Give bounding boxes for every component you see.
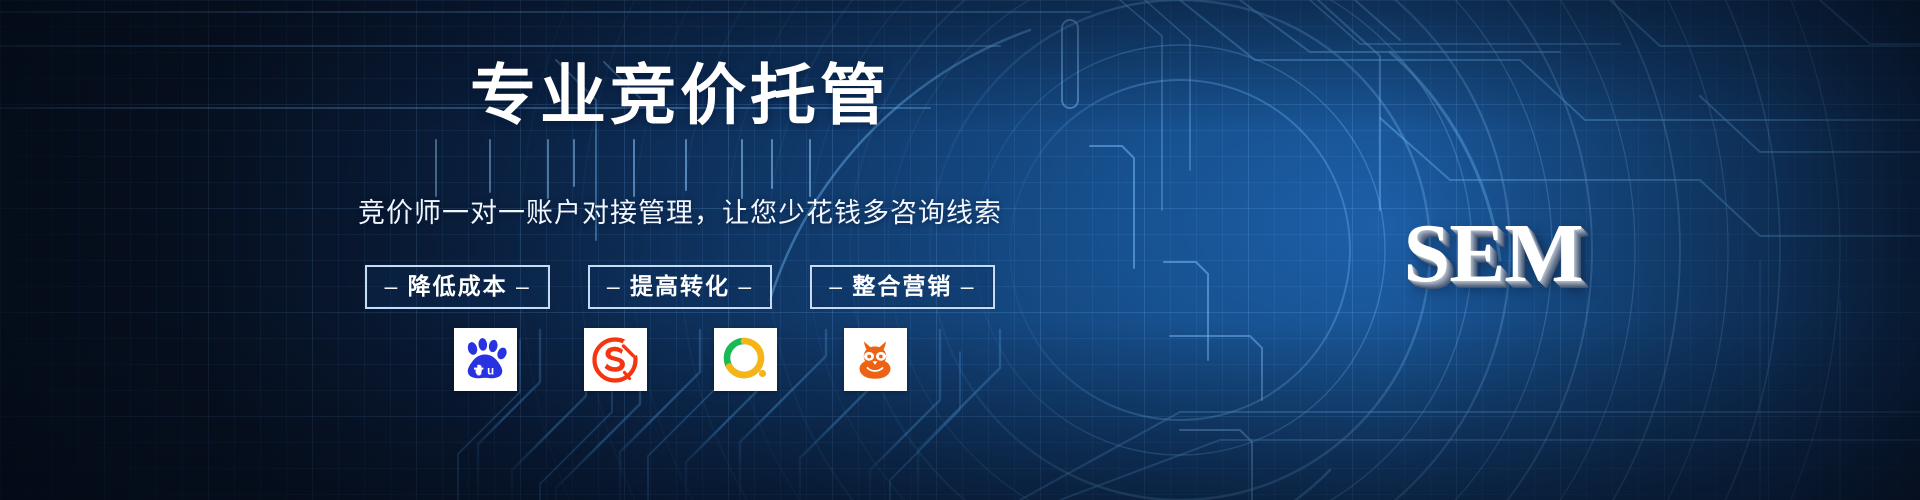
- feature-badge-cost[interactable]: – 降低成本 –: [365, 265, 549, 309]
- badge-dash-left: –: [607, 273, 622, 299]
- page-subtitle: 竞价师一对一账户对接管理，让您少花钱多咨询线索: [300, 200, 1060, 227]
- sogou-logo-icon: [590, 335, 640, 385]
- page-title: 专业竞价托管: [300, 62, 1060, 128]
- shenma-logo-icon: [850, 335, 900, 385]
- badge-dash-left: –: [829, 273, 844, 299]
- sogou-logo-tile[interactable]: [584, 328, 647, 391]
- badge-dash-right: –: [516, 273, 531, 299]
- svg-text:d: d: [475, 365, 482, 377]
- badge-label: 提高转化: [630, 273, 730, 299]
- baidu-logo-icon: d u: [460, 335, 510, 385]
- svg-text:u: u: [487, 365, 494, 377]
- feature-badge-marketing[interactable]: – 整合营销 –: [810, 265, 994, 309]
- platform-logo-list: d u: [300, 328, 1060, 391]
- badge-label: 降低成本: [408, 273, 508, 299]
- badge-label: 整合营销: [852, 273, 952, 299]
- shenma-logo-tile[interactable]: [844, 328, 907, 391]
- feature-badge-list: – 降低成本 – – 提高转化 – – 整合营销 –: [300, 265, 1060, 309]
- baidu-logo-tile[interactable]: d u: [454, 328, 517, 391]
- badge-dash-right: –: [961, 273, 976, 299]
- sem-wordmark-text: SEM: [1368, 212, 1618, 296]
- feature-badge-conversion[interactable]: – 提高转化 –: [588, 265, 772, 309]
- qihoo-360-logo-tile[interactable]: [714, 328, 777, 391]
- qihoo-360-logo-icon: [720, 335, 770, 385]
- badge-dash-left: –: [384, 273, 399, 299]
- sem-wordmark: SEM: [1368, 212, 1618, 296]
- sem-hosting-banner: 专业竞价托管 竞价师一对一账户对接管理，让您少花钱多咨询线索 – 降低成本 – …: [0, 0, 1920, 500]
- banner-content: 专业竞价托管 竞价师一对一账户对接管理，让您少花钱多咨询线索 – 降低成本 – …: [0, 0, 1920, 500]
- badge-dash-right: –: [738, 273, 753, 299]
